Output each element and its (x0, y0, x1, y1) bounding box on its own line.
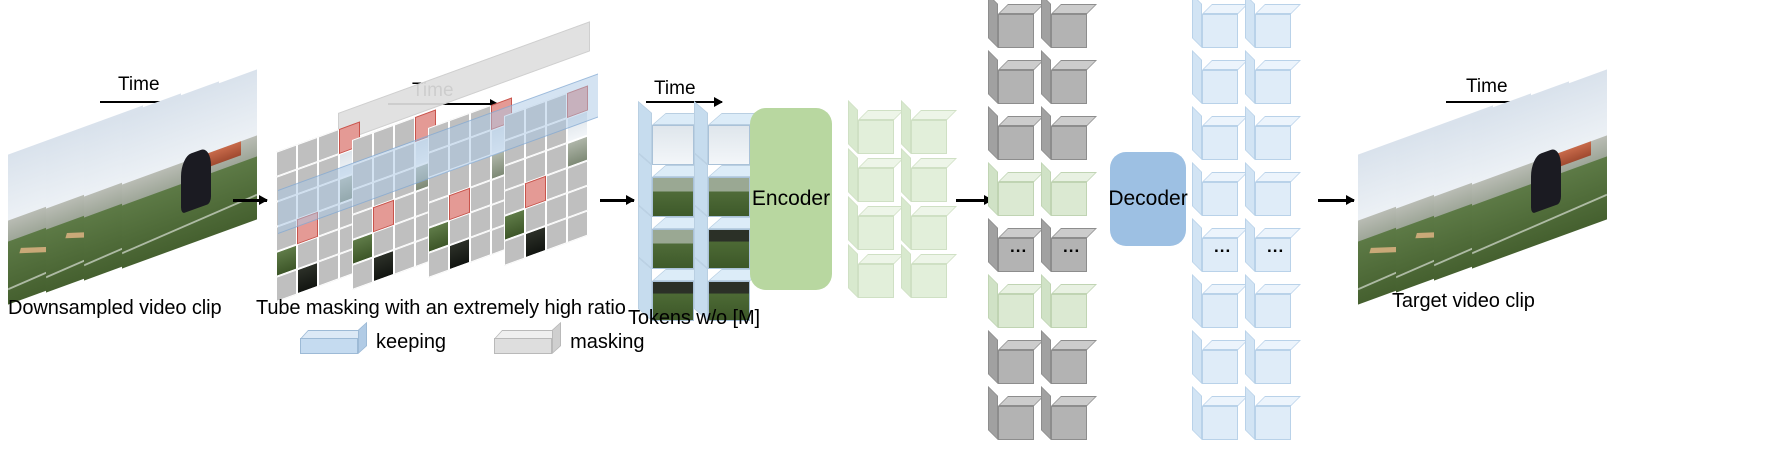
time-label-output: Time (1466, 76, 1508, 98)
time-label-input: Time (118, 74, 160, 96)
caption-output-clip: Target video clip (1392, 290, 1535, 313)
sequence-cube (988, 4, 1034, 48)
reconstructed-cube (1192, 284, 1238, 328)
sequence-cube (988, 116, 1034, 160)
reconstructed-cube (1192, 172, 1238, 216)
flow-arrow-4 (1318, 199, 1354, 202)
encoded-cube (901, 158, 947, 202)
sequence-cube (1041, 172, 1087, 216)
sequence-cube (988, 172, 1034, 216)
encoder-block[interactable]: Encoder (750, 108, 832, 290)
legend-item-masking: masking (494, 330, 644, 354)
reconstructed-cube (1192, 4, 1238, 48)
sequence-cube (988, 284, 1034, 328)
figure-canvas: Time Downsampled video clip (0, 0, 1784, 458)
legend-label-masking: masking (570, 331, 644, 354)
caption-input-clip: Downsampled video clip (8, 297, 221, 320)
ellipsis-recon-col1: ... (1214, 238, 1231, 255)
ellipsis-recon-col2: ... (1267, 238, 1284, 255)
sequence-cube (1041, 4, 1087, 48)
ellipsis-full-col2: ... (1063, 238, 1080, 255)
encoded-cube (901, 206, 947, 250)
reconstructed-cube (1245, 172, 1291, 216)
reconstructed-cube (1245, 116, 1291, 160)
flow-arrow-1 (233, 199, 267, 202)
reconstructed-cube (1245, 4, 1291, 48)
decoder-block[interactable]: Decoder (1110, 152, 1186, 246)
caption-masking: Tube masking with an extremely high rati… (256, 297, 626, 320)
video-frame (122, 69, 257, 268)
masking-swatch (494, 330, 560, 354)
token-cube (694, 217, 750, 269)
flow-arrow-2 (600, 199, 634, 202)
sequence-cube (988, 340, 1034, 384)
encoded-cube (848, 158, 894, 202)
legend-item-keeping: keeping (300, 330, 446, 354)
encoded-cube (901, 110, 947, 154)
time-arrow-tokens (646, 101, 722, 103)
legend: keeping masking (300, 330, 645, 354)
sequence-cube (1041, 396, 1087, 440)
reconstructed-cube (1192, 396, 1238, 440)
video-frame (1472, 69, 1607, 268)
reconstructed-cube (1245, 284, 1291, 328)
sequence-cube (988, 396, 1034, 440)
time-label-tokens: Time (654, 78, 696, 100)
ellipsis-full-col1: ... (1010, 238, 1027, 255)
reconstructed-cube (1192, 116, 1238, 160)
reconstructed-cube (1245, 396, 1291, 440)
reconstructed-cube (1245, 340, 1291, 384)
token-cube (694, 113, 750, 165)
keeping-swatch (300, 330, 366, 354)
reconstructed-cube (1192, 340, 1238, 384)
token-cube (638, 217, 694, 269)
encoded-cube (848, 110, 894, 154)
token-cube (638, 113, 694, 165)
sequence-cube (1041, 340, 1087, 384)
encoded-cube (848, 206, 894, 250)
reconstructed-cube (1245, 60, 1291, 104)
sequence-cube (1041, 60, 1087, 104)
sequence-cube (1041, 284, 1087, 328)
caption-tokens: Tokens w/o [M] (628, 307, 760, 330)
sequence-cube (1041, 116, 1087, 160)
encoded-cube (848, 254, 894, 298)
token-cube (638, 165, 694, 217)
flow-arrow-3 (956, 199, 992, 202)
encoded-cube (901, 254, 947, 298)
reconstructed-cube (1192, 60, 1238, 104)
legend-label-keeping: keeping (376, 331, 446, 354)
token-cube (694, 165, 750, 217)
sequence-cube (988, 60, 1034, 104)
